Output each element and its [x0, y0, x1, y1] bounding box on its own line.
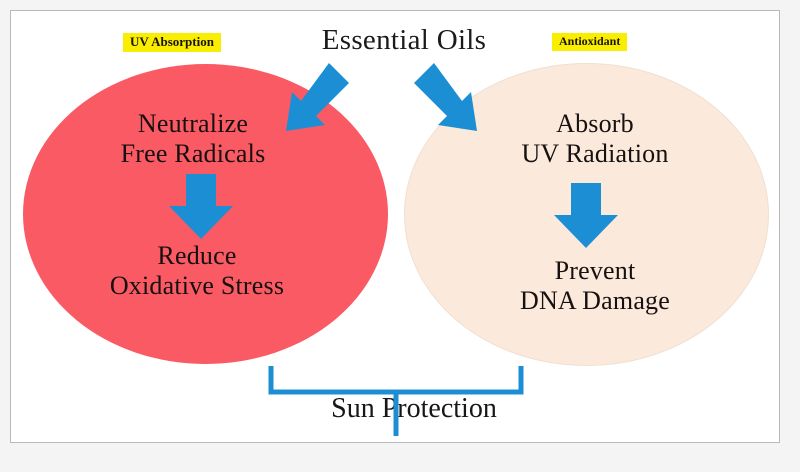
sun-protection-label: Sun Protection — [279, 393, 549, 425]
tag-uv-absorption: UV Absorption — [123, 33, 221, 52]
antioxidant-bottom-text: Reduce Oxidative Stress — [37, 241, 357, 301]
uv-branch-ellipse: Absorb UV Radiation Prevent DNA Damage — [404, 63, 769, 366]
diagram-title: Essential Oils — [294, 24, 514, 57]
diagram-canvas: Neutralize Free Radicals Reduce Oxidativ… — [0, 0, 800, 472]
uv-top-text: Absorb UV Radiation — [445, 109, 745, 169]
tag-antioxidant: Antioxidant — [552, 33, 627, 51]
antioxidant-branch-ellipse: Neutralize Free Radicals Reduce Oxidativ… — [23, 64, 388, 364]
diagram-frame: Neutralize Free Radicals Reduce Oxidativ… — [10, 10, 780, 443]
antioxidant-top-text: Neutralize Free Radicals — [43, 109, 343, 169]
uv-bottom-text: Prevent DNA Damage — [445, 256, 745, 316]
